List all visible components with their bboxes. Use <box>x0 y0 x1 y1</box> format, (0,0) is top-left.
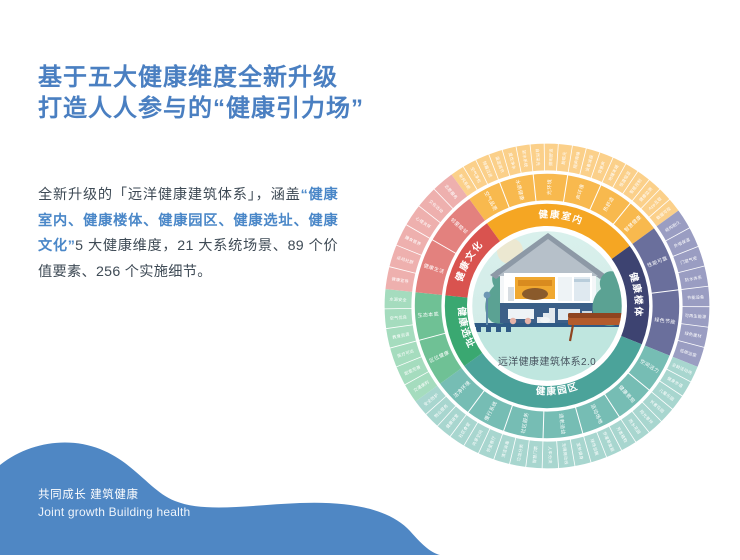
svg-text:光环境: 光环境 <box>546 179 553 195</box>
wheel-element-label: 水源安全 <box>389 296 407 303</box>
svg-text:照明舒适: 照明舒适 <box>547 148 553 166</box>
wheel-element-label: 自然采光 <box>535 148 542 166</box>
body-paragraph: 全新升级的「远洋健康建筑体系」，涵盖“健康室内、健康楼体、健康园区、健康选址、健… <box>38 183 338 285</box>
wheel-element-label: 照明舒适 <box>547 148 553 166</box>
footer-text-en: Joint growth Building health <box>38 504 190 521</box>
title-line-2: 打造人人参与的“健康引力场” <box>38 93 458 124</box>
wheel-element-label: 节能设备 <box>687 293 705 300</box>
wheel-center-caption: 远洋健康建筑体系2.0 <box>498 355 596 368</box>
svg-text:水源安全: 水源安全 <box>389 296 407 303</box>
body-segment-2: 5 大健康维度，21 大系统场景、89 个价值要素、256 个实施细节。 <box>38 238 338 280</box>
health-system-wheel: 新风系统空气净化除霾过滤温湿调节直饮净水软水系统自然采光照明舒适防眩光隔声降噪设… <box>382 147 712 465</box>
title-line-1: 基于五大健康维度全新升级 <box>38 62 458 93</box>
svg-text:自然采光: 自然采光 <box>535 148 542 166</box>
slide-canvas: 基于五大健康维度全新升级 打造人人参与的“健康引力场” 全新升级的「远洋健康建筑… <box>0 0 740 555</box>
wheel-scene-label: 光环境 <box>546 179 553 195</box>
body-segment-1: 全新升级的「远洋健康建筑体系」，涵盖 <box>38 187 301 203</box>
page-title: 基于五大健康维度全新升级 打造人人参与的“健康引力场” <box>38 62 458 124</box>
wheel-svg: 新风系统空气净化除霾过滤温湿调节直饮净水软水系统自然采光照明舒适防眩光隔声降噪设… <box>382 147 712 465</box>
quote-open: “ <box>301 187 308 203</box>
footer-text-cn: 共同成长 建筑健康 <box>38 487 190 504</box>
footer-text: 共同成长 建筑健康 Joint growth Building health <box>38 487 190 521</box>
svg-text:节能设备: 节能设备 <box>687 293 705 300</box>
